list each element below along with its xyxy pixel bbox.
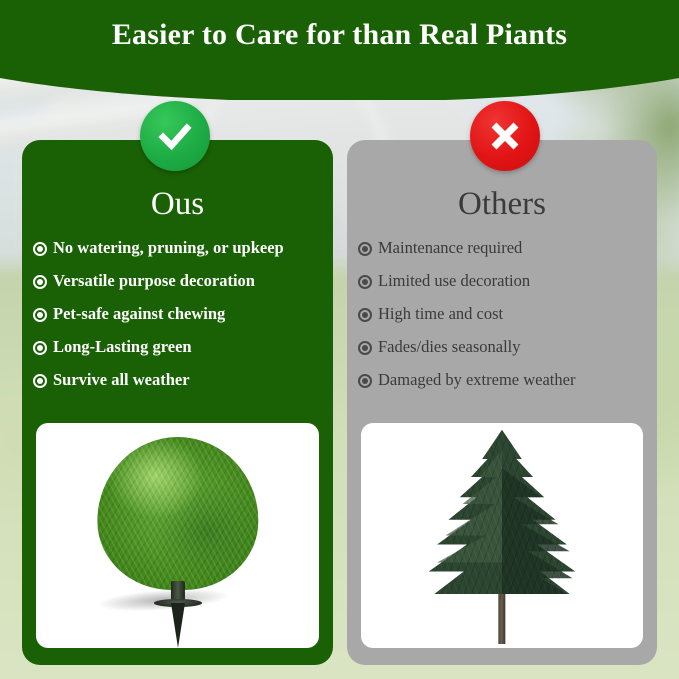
spruce-texture xyxy=(415,432,590,599)
artificial-shrub-illustration xyxy=(36,423,319,648)
radio-bullet-icon xyxy=(33,275,47,289)
list-item: Damaged by extreme weather xyxy=(347,364,657,397)
page-title: Easier to Care for than Real Piants xyxy=(0,18,679,52)
shrub-stake-spike xyxy=(171,603,185,648)
radio-bullet-icon xyxy=(358,374,372,388)
list-item: Versatile purpose decoration xyxy=(22,265,333,298)
list-item: Long-Lasting green xyxy=(22,331,333,364)
feature-label: Fades/dies seasonally xyxy=(378,338,521,356)
real-spruce-illustration xyxy=(361,423,643,648)
shrub-texture xyxy=(97,437,258,590)
infographic-canvas: Easier to Care for than Real Piants Ous … xyxy=(0,0,679,679)
ours-product-photo xyxy=(36,423,319,648)
others-card: Others Maintenance required Limited use … xyxy=(347,140,657,665)
others-product-photo xyxy=(361,423,643,648)
x-circle-icon xyxy=(470,101,540,171)
list-item: Limited use decoration xyxy=(347,265,657,298)
radio-bullet-icon xyxy=(33,242,47,256)
feature-label: Maintenance required xyxy=(378,239,522,257)
radio-bullet-icon xyxy=(358,275,372,289)
list-item: No watering, pruning, or upkeep xyxy=(22,232,333,265)
ours-feature-list: No watering, pruning, or upkeep Versatil… xyxy=(22,232,333,397)
shrub-foliage xyxy=(97,437,258,590)
list-item: Fades/dies seasonally xyxy=(347,331,657,364)
radio-bullet-icon xyxy=(358,341,372,355)
feature-label: Long-Lasting green xyxy=(53,338,192,356)
radio-bullet-icon xyxy=(358,242,372,256)
header-band: Easier to Care for than Real Piants xyxy=(0,0,679,100)
radio-bullet-icon xyxy=(358,308,372,322)
radio-bullet-icon xyxy=(33,308,47,322)
check-circle-icon xyxy=(140,101,210,171)
ours-title: Ous xyxy=(22,188,333,221)
others-feature-list: Maintenance required Limited use decorat… xyxy=(347,232,657,397)
feature-label: Damaged by extreme weather xyxy=(378,371,575,389)
ours-card: Ous No watering, pruning, or upkeep Vers… xyxy=(22,140,333,665)
feature-label: No watering, pruning, or upkeep xyxy=(53,239,284,257)
radio-bullet-icon xyxy=(33,374,47,388)
feature-label: Versatile purpose decoration xyxy=(53,272,255,290)
others-title: Others xyxy=(347,188,657,221)
feature-label: High time and cost xyxy=(378,305,503,323)
shrub-stake-post xyxy=(170,581,184,601)
feature-label: Survive all weather xyxy=(53,371,190,389)
list-item: High time and cost xyxy=(347,298,657,331)
list-item: Survive all weather xyxy=(22,364,333,397)
list-item: Pet-safe against chewing xyxy=(22,298,333,331)
feature-label: Limited use decoration xyxy=(378,272,530,290)
list-item: Maintenance required xyxy=(347,232,657,265)
feature-label: Pet-safe against chewing xyxy=(53,305,225,323)
radio-bullet-icon xyxy=(33,341,47,355)
